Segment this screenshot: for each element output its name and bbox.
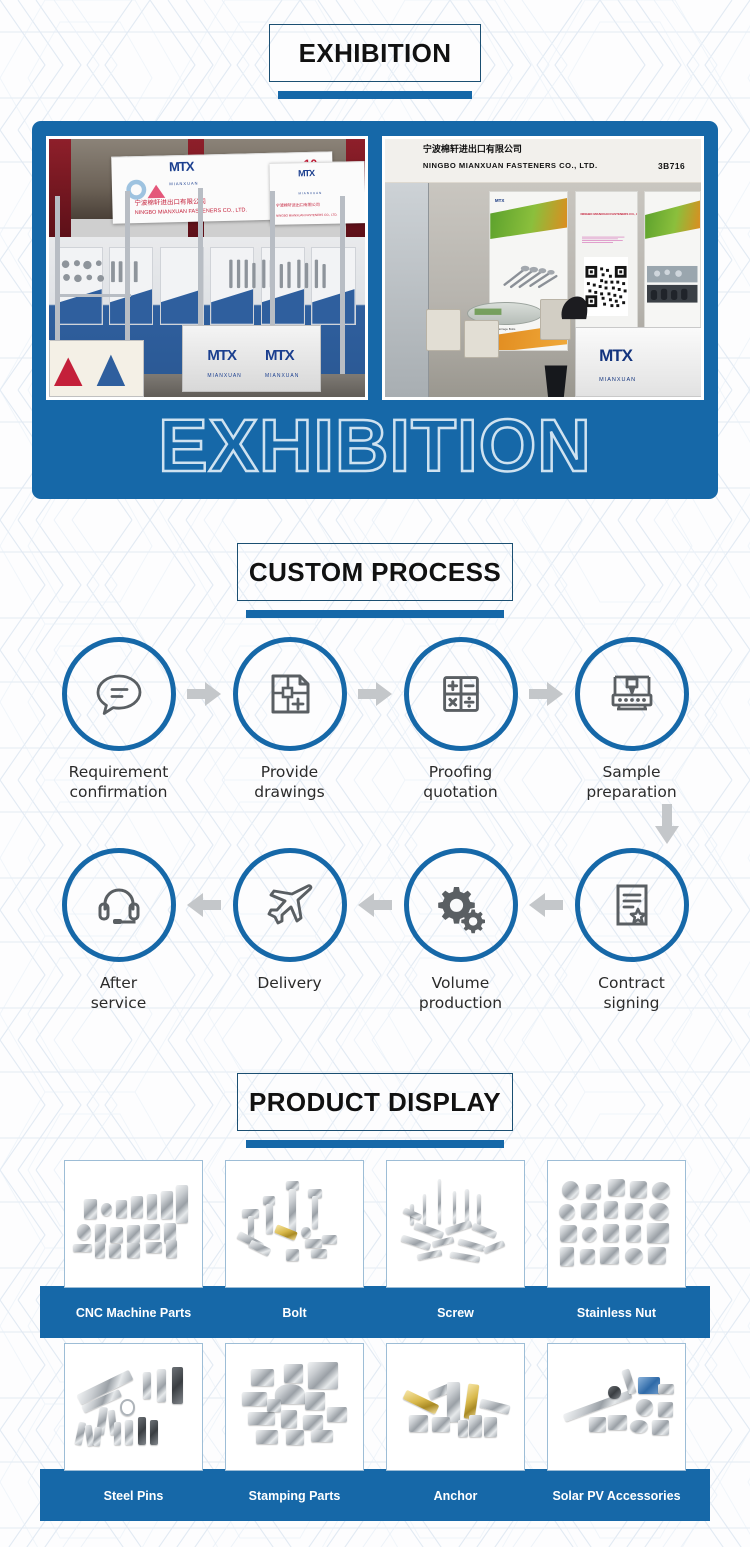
process-arrow-down-wrap — [0, 804, 750, 844]
product-name: Solar PV Accessories — [552, 1471, 680, 1521]
exhibition-heading-underline — [278, 91, 472, 99]
process-row-1: Requirement confirmation — [0, 637, 750, 802]
booth2-chair-2 — [464, 320, 499, 359]
process-step-label: Provide drawings — [254, 762, 324, 802]
product-thumb — [386, 1160, 525, 1288]
product-name: CNC Machine Parts — [76, 1288, 191, 1338]
process-heading-underline — [246, 610, 504, 618]
process-row-2: After service Delivery — [0, 848, 750, 1013]
process-step-label-line2: signing — [603, 994, 659, 1012]
booth-counter-logo-2: MTX — [265, 348, 294, 363]
process-step-circle — [404, 637, 518, 751]
product-row-2-cards: Steel Pins — [0, 1343, 750, 1521]
booth2-tabletop-papers — [473, 304, 505, 319]
process-arrow-4 — [186, 892, 222, 918]
product-thumb — [64, 1343, 203, 1471]
product-row-1-cards: CNC Machine Parts — [0, 1160, 750, 1338]
product-name: Stamping Parts — [249, 1471, 341, 1521]
booth-banner2-en: NINGBO MIANXUAN FASTENERS CO., LTD. — [276, 213, 337, 218]
product-card-anchor[interactable]: Anchor — [386, 1343, 525, 1521]
custom-process-flow: Requirement confirmation — [0, 637, 750, 1013]
product-thumb — [64, 1160, 203, 1288]
booth2-aisle-view — [385, 183, 429, 397]
booth-truss — [340, 196, 345, 382]
booth-banner2-logo: MTX — [298, 169, 314, 178]
arrow-left-icon — [529, 892, 563, 918]
process-step-label-line1: After — [100, 974, 137, 992]
booth-foreground-poster — [49, 340, 144, 397]
process-heading-box: CUSTOM PROCESS — [237, 543, 513, 601]
process-step-circle — [575, 848, 689, 962]
speech-bubble-icon — [91, 666, 147, 722]
arrow-down-icon — [654, 804, 680, 844]
rollup-logo: MTX — [495, 198, 505, 203]
product-card-steel-pins[interactable]: Steel Pins — [64, 1343, 203, 1521]
product-thumb — [547, 1343, 686, 1471]
process-step-circle — [62, 848, 176, 962]
booth-counter: MTX MIANXUAN MTX MIANXUAN — [182, 325, 321, 392]
booth2-header-cn: 宁波棉轩进出口有限公司 — [423, 142, 522, 155]
product-name: Steel Pins — [104, 1471, 164, 1521]
product-heading-underline — [246, 1140, 504, 1148]
process-step-label: Proofing quotation — [423, 762, 497, 802]
arrow-left-icon — [187, 892, 221, 918]
rollup-factory-photos — [647, 248, 697, 322]
booth2-booth-number: 3B716 — [658, 161, 685, 171]
booth2-counter: MTX MIANXUAN — [575, 327, 704, 397]
booth2-trash-bin — [537, 361, 575, 397]
contract-document-icon — [604, 877, 660, 933]
rollup-bolt-photo — [496, 245, 561, 305]
process-step-after-service[interactable]: After service — [51, 848, 186, 1013]
process-step-circle — [62, 637, 176, 751]
process-step-label: After service — [91, 973, 147, 1013]
process-step-provide-drawings[interactable]: Provide drawings — [222, 637, 357, 802]
product-card-stainless-nut[interactable]: Stainless Nut — [547, 1160, 686, 1338]
exhibition-banner-word: EXHIBITION — [32, 407, 718, 485]
arrow-left-icon — [358, 892, 392, 918]
product-card-stamping-parts[interactable]: Stamping Parts — [225, 1343, 364, 1521]
arrow-right-icon — [358, 681, 392, 707]
process-step-label-line2: production — [419, 994, 502, 1012]
exhibition-photo-row: MTX MIANXUAN 10 宁波棉轩进出口有限公司 NINGBO MIANX… — [46, 136, 704, 400]
product-row-2: Steel Pins — [0, 1343, 750, 1521]
gears-icon — [432, 876, 490, 934]
product-name: Anchor — [434, 1471, 478, 1521]
process-heading: CUSTOM PROCESS — [0, 543, 750, 618]
booth2-counter-logo: MTX — [599, 347, 632, 364]
booth2-bag — [552, 289, 596, 325]
booth-panel-parts — [58, 253, 153, 294]
process-step-sample-preparation[interactable]: Sample preparation — [564, 637, 699, 802]
product-row-1: CNC Machine Parts — [0, 1160, 750, 1338]
arrow-right-icon — [187, 681, 221, 707]
headset-icon — [91, 877, 147, 933]
booth2-counter-logo-sub: MIANXUAN — [599, 377, 636, 383]
process-step-label-line2: confirmation — [70, 783, 168, 801]
process-step-circle — [404, 848, 518, 962]
process-step-label: Requirement confirmation — [69, 762, 169, 802]
product-card-solar-pv-accessories[interactable]: Solar PV Accessories — [547, 1343, 686, 1521]
booth-banner2-logo-sub: MIANXUAN — [299, 191, 323, 195]
booth2-rollup-3 — [644, 191, 701, 341]
arrow-right-icon — [529, 681, 563, 707]
product-display-grid: CNC Machine Parts — [0, 1160, 750, 1521]
process-arrow-2 — [357, 681, 393, 707]
process-step-volume-production[interactable]: Volume production — [393, 848, 528, 1013]
product-heading-box: PRODUCT DISPLAY — [237, 1073, 513, 1131]
product-card-bolt[interactable]: Bolt — [225, 1160, 364, 1338]
booth-panel-parts — [207, 253, 352, 297]
rollup-green-stripe — [490, 198, 567, 239]
process-arrow-3 — [528, 681, 564, 707]
process-step-label: Sample preparation — [586, 762, 676, 802]
product-name: Stainless Nut — [577, 1288, 656, 1338]
process-step-label-line1: Contract — [598, 974, 665, 992]
airplane-icon — [261, 876, 319, 934]
product-thumb — [386, 1343, 525, 1471]
process-arrow-5 — [357, 892, 393, 918]
process-arrow-1 — [186, 681, 222, 707]
process-step-label-line1: Delivery — [257, 974, 321, 992]
booth2-chair-1 — [426, 309, 461, 350]
process-step-label-line2: drawings — [254, 783, 324, 801]
product-card-cnc-machine-parts[interactable]: CNC Machine Parts — [64, 1160, 203, 1338]
process-step-label-line1: Sample — [602, 763, 660, 781]
process-step-label: Volume production — [419, 973, 502, 1013]
process-step-label-line2: preparation — [586, 783, 676, 801]
process-step-requirement-confirmation[interactable]: Requirement confirmation — [51, 637, 186, 802]
cnc-machine-icon — [603, 665, 661, 723]
booth-counter-logo-2-sub: MIANXUAN — [265, 373, 299, 379]
exhibition-heading: EXHIBITION — [0, 24, 750, 99]
process-step-label-line1: Proofing — [429, 763, 493, 781]
process-step-label: Delivery — [257, 973, 321, 993]
product-thumb — [547, 1160, 686, 1288]
booth-banner2-cn: 宁波棉轩进出口有限公司 — [276, 202, 320, 209]
process-step-contract-signing[interactable]: Contract signing — [564, 848, 699, 1013]
rollup-green-stripe — [645, 200, 700, 238]
exhibition-photo-2[interactable]: MTX Carriage Bolts NINGBO MIANXUAN FASTE… — [382, 136, 704, 400]
exhibition-heading-box: EXHIBITION — [269, 24, 481, 82]
product-card-screw[interactable]: Screw — [386, 1160, 525, 1338]
process-step-circle — [575, 637, 689, 751]
product-thumb — [225, 1343, 364, 1471]
process-arrow-6 — [528, 892, 564, 918]
product-name: Screw — [437, 1288, 474, 1338]
process-step-label-line1: Volume — [432, 974, 490, 992]
process-step-circle — [233, 848, 347, 962]
booth-poster-graphic — [54, 347, 139, 391]
product-heading: PRODUCT DISPLAY — [0, 1073, 750, 1148]
process-heading-text: CUSTOM PROCESS — [249, 557, 501, 588]
exhibition-heading-text: EXHIBITION — [299, 38, 452, 69]
process-step-label-line1: Provide — [261, 763, 318, 781]
booth2-header-en: NINGBO MIANXUAN FASTENERS CO., LTD. — [423, 161, 598, 170]
booth-banner-logo-sub: MIANXUAN — [170, 181, 199, 187]
rollup-company-line: NINGBO MIANXUAN FASTENERS CO., LTD. — [580, 212, 637, 216]
blueprint-drawing-icon — [262, 666, 318, 722]
rollup-contact-lines — [582, 230, 631, 251]
booth-counter-logo: MTX — [207, 348, 236, 363]
booth-banner-secondary: MTX MIANXUAN 宁波棉轩进出口有限公司 NINGBO MIANXUAN… — [270, 161, 366, 225]
process-step-proofing-quotation[interactable]: Proofing quotation — [393, 637, 528, 802]
rollup-caption: Carriage Bolts — [496, 327, 515, 331]
booth2-header-banner: 宁波棉轩进出口有限公司 NINGBO MIANXUAN FASTENERS CO… — [385, 139, 701, 183]
process-step-label-line1: Requirement — [69, 763, 169, 781]
process-step-delivery[interactable]: Delivery — [222, 848, 357, 993]
product-thumb — [225, 1160, 364, 1288]
process-step-circle — [233, 637, 347, 751]
process-step-label: Contract signing — [598, 973, 665, 1013]
product-name: Bolt — [282, 1288, 306, 1338]
calculator-icon — [434, 667, 488, 721]
booth-truss — [55, 294, 131, 297]
booth-banner-logo: MTX — [169, 160, 194, 174]
process-step-label-line2: quotation — [423, 783, 497, 801]
booth-counter-logo-sub: MIANXUAN — [207, 373, 241, 379]
exhibition-photo-1[interactable]: MTX MIANXUAN 10 宁波棉轩进出口有限公司 NINGBO MIANX… — [46, 136, 368, 400]
exhibition-panel: MTX MIANXUAN 10 宁波棉轩进出口有限公司 NINGBO MIANX… — [32, 121, 718, 499]
process-step-label-line2: service — [91, 994, 147, 1012]
product-heading-text: PRODUCT DISPLAY — [249, 1087, 501, 1118]
